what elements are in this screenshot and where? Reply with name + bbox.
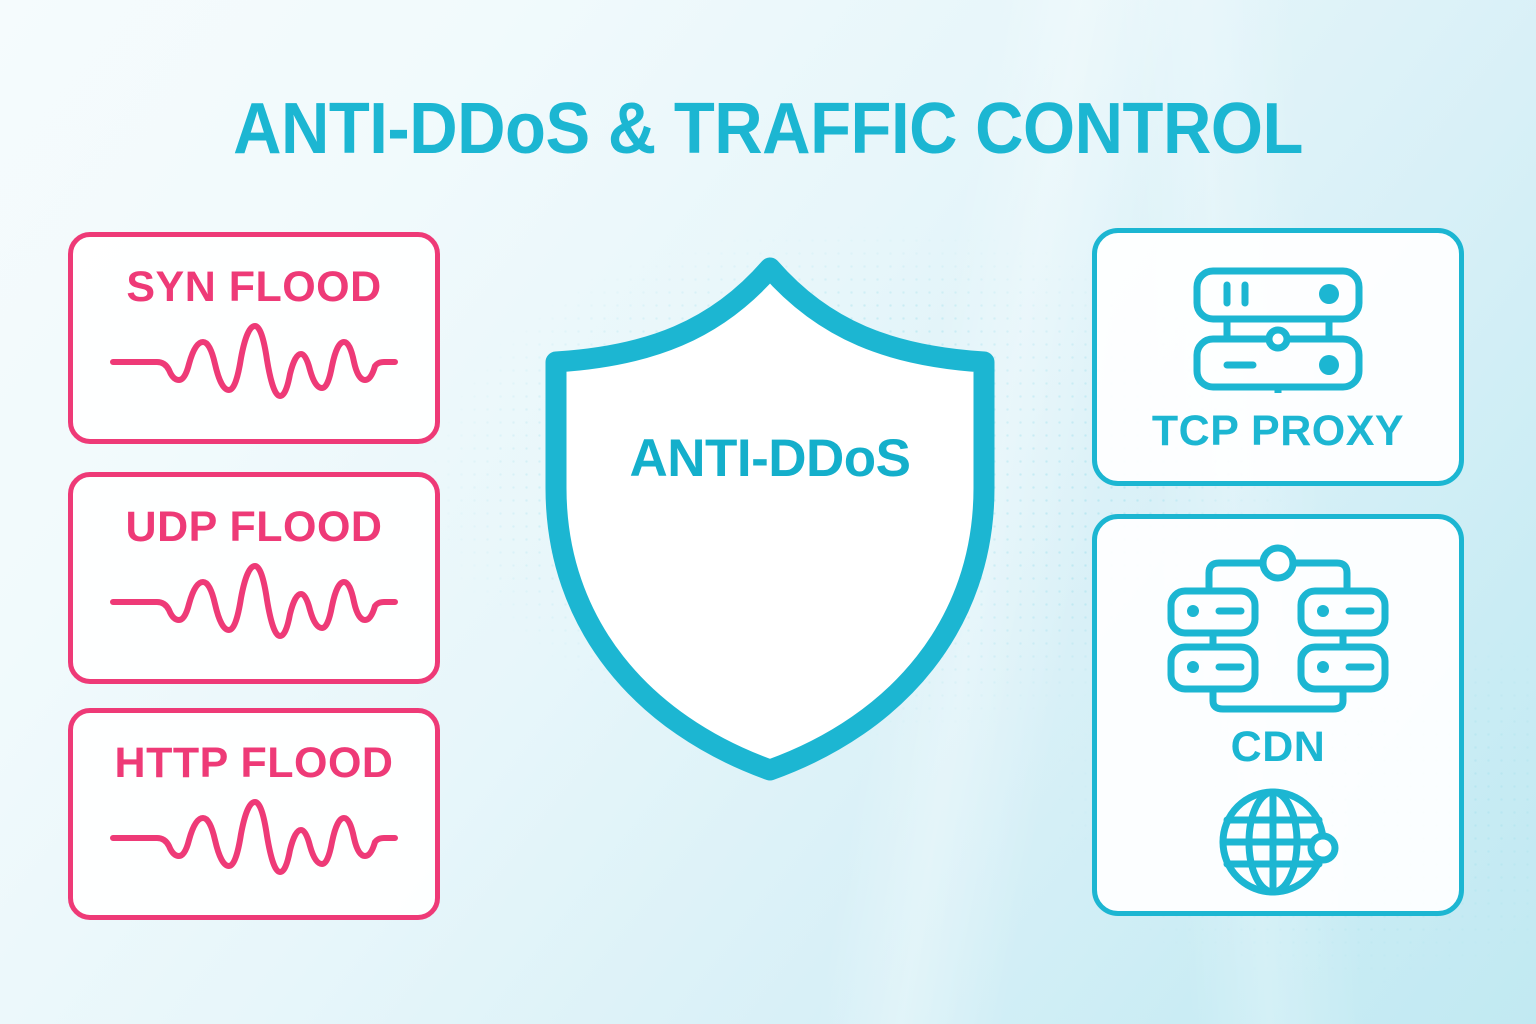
defense-card-cdn[interactable]: CDN (1092, 514, 1464, 916)
attack-card-http-flood[interactable]: HTTP FLOOD (68, 708, 440, 920)
globe-icon (1213, 786, 1343, 898)
attack-card-syn-flood[interactable]: SYN FLOOD (68, 232, 440, 444)
attack-card-label: UDP FLOOD (126, 503, 383, 552)
infographic-canvas: ANTI-DDoS & TRAFFIC CONTROL SYN FLOOD UD… (0, 0, 1536, 1024)
page-title: ANTI-DDoS & TRAFFIC CONTROL (54, 88, 1482, 170)
waveform-icon (109, 558, 399, 644)
waveform-icon (109, 318, 399, 404)
waveform-icon (109, 794, 399, 880)
defense-card-label: TCP PROXY (1152, 407, 1404, 456)
defense-card-tcp-proxy[interactable]: TCP PROXY (1092, 228, 1464, 486)
shield-label: ANTI-DDoS (540, 428, 1000, 489)
defense-card-label: CDN (1231, 723, 1326, 772)
server-network-icon (1163, 541, 1393, 717)
shield-icon (540, 252, 1000, 782)
attack-card-udp-flood[interactable]: UDP FLOOD (68, 472, 440, 684)
anti-ddos-shield[interactable]: ANTI-DDoS (540, 252, 1000, 782)
server-rack-icon (1183, 265, 1373, 393)
attack-card-label: HTTP FLOOD (115, 739, 394, 788)
attack-card-label: SYN FLOOD (126, 263, 381, 312)
